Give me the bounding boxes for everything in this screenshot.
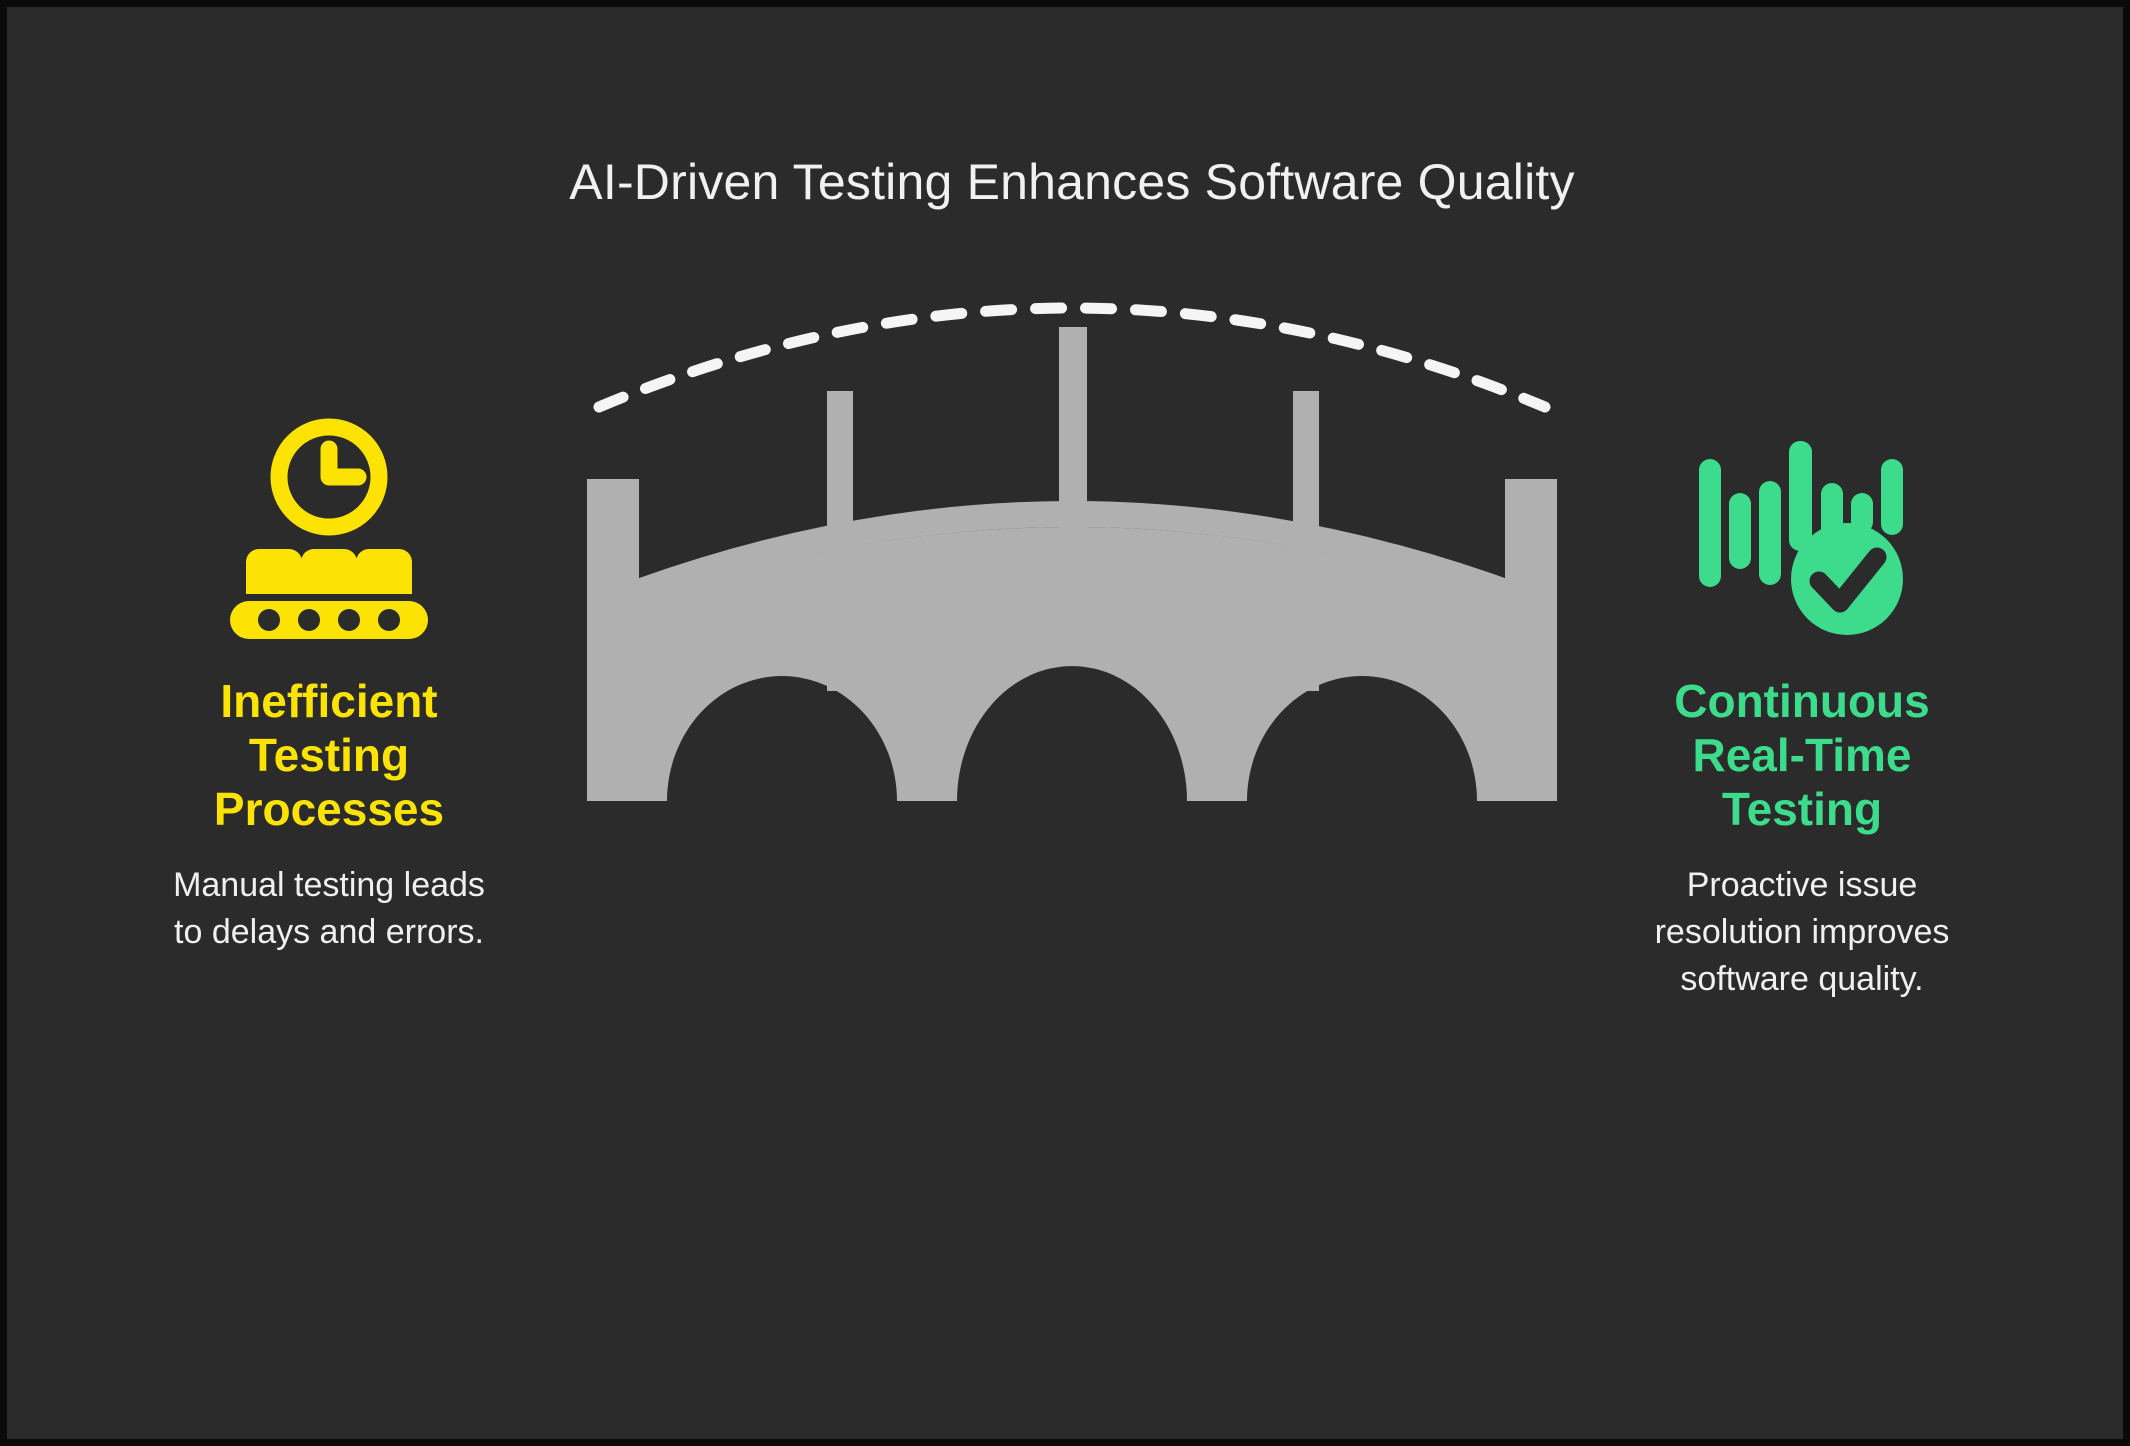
body-line: Manual testing leads [99,862,559,909]
heading-line: Inefficient [99,675,559,729]
heading-line: Continuous [1572,675,2032,729]
column-continuous-testing: Continuous Real-Time Testing Proactive i… [1572,407,2032,1003]
arch-bridge-illustration [587,287,1557,827]
clock-hands-icon [329,449,358,477]
column-body-right: Proactive issue resolution improves soft… [1572,862,2032,1003]
heading-line: Testing [1572,783,2032,837]
check-circle-icon [1791,523,1903,635]
body-line: resolution improves [1572,909,2032,956]
column-heading-right: Continuous Real-Time Testing [1572,675,2032,836]
body-line: Proactive issue [1572,862,2032,909]
infographic-canvas: AI-Driven Testing Enhances Software Qual… [0,0,2130,1446]
body-line: to delays and errors. [99,909,559,956]
heading-line: Processes [99,783,559,837]
column-body-left: Manual testing leads to delays and error… [99,862,559,956]
body-line: software quality. [1572,956,2032,1003]
column-inefficient-testing: Inefficient Testing Processes Manual tes… [99,407,559,956]
heading-line: Testing [99,729,559,783]
conveyor-boxes-icon [246,549,412,594]
waveform-check-icon [1572,407,2032,647]
bridge-body [587,327,1557,801]
heading-line: Real-Time [1572,729,2032,783]
column-heading-left: Inefficient Testing Processes [99,675,559,836]
conveyor-belt-clock-icon [99,407,559,647]
page-title: AI-Driven Testing Enhances Software Qual… [7,152,2130,212]
